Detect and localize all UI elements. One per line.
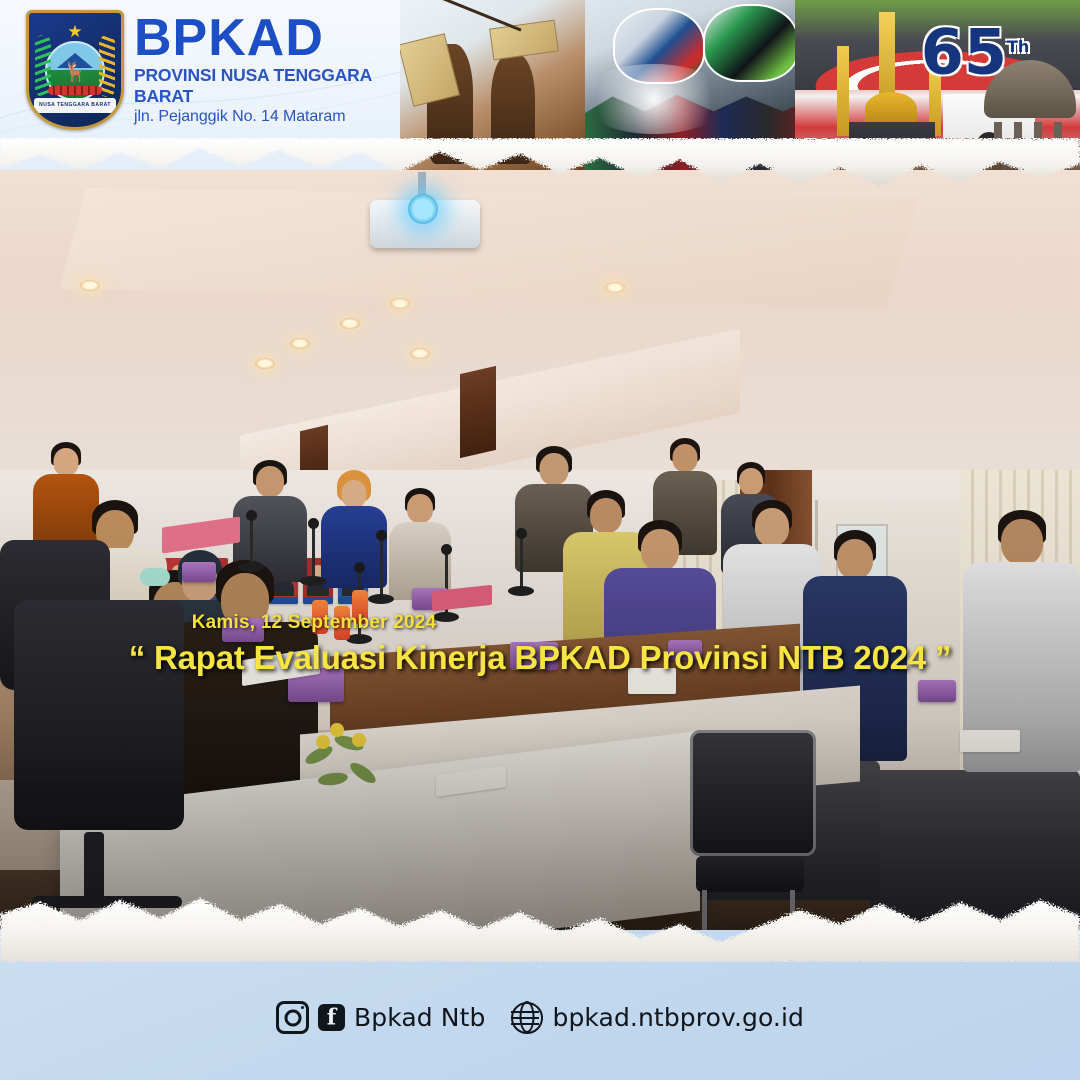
event-date: Kamis, 12 September 2024 [192,612,437,634]
instagram-icon[interactable] [276,1001,309,1034]
collage-ntb-landmarks: 65Th [795,0,1080,172]
main-photo [0,170,1080,930]
emblem-ribbon-text: NUSA TENGGARA BARAT [34,98,116,113]
website-text: bpkad.ntbprov.go.id [552,1003,804,1032]
website-group[interactable]: bpkad.ntbprov.go.id [511,1002,804,1034]
footer-bar: Bpkad Ntb bpkad.ntbprov.go.id [0,955,1080,1080]
emblem-star-icon: ★ [67,23,82,40]
emblem-deer-icon: 🦌 [63,63,87,82]
org-acronym: BPKAD [134,14,384,63]
event-title: “ Rapat Evaluasi Kinerja BPKAD Provinsi … [0,639,1080,677]
poster-canvas: 65Th ★ 🦌 NUSA TENGGARA BARAT [0,0,1080,1080]
ntb-province-emblem: ★ 🦌 NUSA TENGGARA BARAT [26,10,124,130]
header-titles: BPKAD PROVINSI NUSA TENGGARA BARAT jln. … [134,14,384,126]
caption-block: Kamis, 12 September 2024 “ Rapat Evaluas… [0,612,1080,677]
facebook-icon[interactable] [318,1004,345,1031]
social-handle-group[interactable]: Bpkad Ntb [276,1001,485,1034]
org-address: jln. Pejanggik No. 14 Mataram [134,108,384,126]
social-handle-text: Bpkad Ntb [354,1003,485,1032]
org-province: PROVINSI NUSA TENGGARA BARAT [134,65,384,107]
collage-motogp-racers [585,0,815,172]
anniversary-suffix: Th [1007,37,1029,56]
anniversary-number: 65 [921,16,1007,89]
header-photo-collage: 65Th [395,0,1080,172]
globe-icon[interactable] [511,1002,543,1034]
anniversary-65-logo: 65Th [920,8,1030,92]
collage-peresean-warriors [395,0,595,172]
header-band: 65Th ★ 🦌 NUSA TENGGARA BARAT [0,0,1080,172]
